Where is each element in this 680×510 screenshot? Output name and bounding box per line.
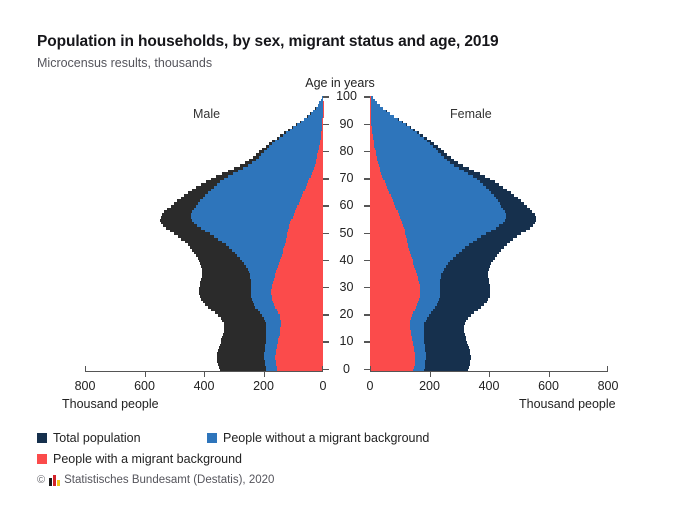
- pyramid-bar: [293, 216, 323, 219]
- pyramid-bar: [281, 319, 323, 322]
- pyramid-bar: [315, 164, 323, 167]
- pyramid-bar: [370, 172, 381, 175]
- pyramid-bar: [370, 295, 420, 298]
- pyramid-bar: [370, 259, 413, 262]
- pyramid-bar: [300, 199, 323, 202]
- pyramid-bar: [370, 202, 394, 205]
- pyramid-bar: [312, 172, 323, 175]
- value-tick-label: 800: [598, 379, 619, 393]
- pyramid-bar: [276, 270, 323, 273]
- age-tick-label: 100: [323, 89, 370, 103]
- pyramid-bar: [295, 210, 323, 213]
- pyramid-bar: [370, 208, 396, 211]
- value-tick-mark: [489, 371, 490, 377]
- pyramid-bar: [275, 355, 323, 358]
- pyramid-bar: [370, 156, 377, 159]
- pyramid-bar: [314, 167, 323, 170]
- pyramid-bar: [370, 317, 411, 320]
- pyramid-bar: [277, 366, 323, 369]
- pyramid-bar: [370, 243, 408, 246]
- legend-label-without-migrant: People without a migrant background: [223, 431, 429, 445]
- pyramid-bar: [272, 297, 323, 300]
- pyramid-bar: [370, 303, 417, 306]
- pyramid-bar: [289, 227, 324, 230]
- pyramid-bar: [275, 306, 323, 309]
- pyramid-bar: [370, 123, 371, 126]
- pyramid-bar: [370, 357, 415, 360]
- pyramid-bar: [284, 246, 323, 249]
- pyramid-bar: [370, 341, 413, 344]
- value-tick-mark: [607, 366, 608, 372]
- pyramid-bar: [280, 327, 323, 330]
- pyramid-bar: [297, 205, 323, 208]
- pyramid-bar: [370, 126, 372, 129]
- pyramid-bar: [274, 278, 323, 281]
- pyramid-bar: [370, 134, 373, 137]
- pyramid-bar: [276, 352, 323, 355]
- pyramid-bar: [370, 319, 410, 322]
- age-tick-label: 40: [323, 253, 370, 267]
- age-tick-label: 0: [323, 362, 370, 376]
- page-title: Population in households, by sex, migran…: [37, 33, 499, 51]
- pyramid-bar: [370, 150, 376, 153]
- pyramid-bar: [370, 194, 391, 197]
- pyramid-bar: [294, 213, 323, 216]
- pyramid-bar: [370, 314, 412, 317]
- pyramid-bar: [370, 246, 408, 249]
- pyramid-bar: [370, 164, 379, 167]
- pyramid-bar: [276, 349, 323, 352]
- pyramid-bar: [283, 248, 323, 251]
- age-tick-label: 70: [323, 171, 370, 185]
- pyramid-bar: [370, 325, 410, 328]
- pyramid-bar: [370, 224, 403, 227]
- pyramid-bar: [370, 115, 371, 118]
- value-tick-mark: [145, 371, 146, 377]
- pyramid-bar: [370, 338, 412, 341]
- pyramid-bar: [299, 202, 323, 205]
- pyramid-bar: [275, 273, 323, 276]
- male-pyramid-panel: [85, 96, 323, 371]
- male-unit-label: Thousand people: [62, 397, 159, 411]
- pyramid-bar: [271, 292, 323, 295]
- pyramid-bar: [370, 213, 399, 216]
- pyramid-bar: [370, 352, 415, 355]
- value-tick-mark: [549, 371, 550, 377]
- pyramid-bar: [291, 219, 323, 222]
- pyramid-bar: [370, 131, 372, 134]
- legend-swatch-with-migrant: [37, 454, 47, 464]
- pyramid-bar: [288, 229, 323, 232]
- population-pyramid-chart: Population in households, by sex, migran…: [0, 0, 680, 510]
- pyramid-bar: [279, 336, 323, 339]
- pyramid-bar: [307, 183, 323, 186]
- pyramid-bar: [370, 175, 382, 178]
- pyramid-bar: [296, 208, 323, 211]
- pyramid-bar: [370, 297, 419, 300]
- pyramid-bar: [273, 281, 323, 284]
- pyramid-bar: [370, 300, 418, 303]
- value-tick-mark: [85, 366, 86, 372]
- legend-label-total-population: Total population: [53, 431, 141, 445]
- pyramid-bar: [280, 333, 323, 336]
- value-tick-label: 600: [134, 379, 155, 393]
- value-tick-label: 600: [538, 379, 559, 393]
- pyramid-bar: [370, 180, 385, 183]
- pyramid-bar: [272, 295, 323, 298]
- pyramid-bar: [370, 251, 410, 254]
- value-tick-label: 400: [479, 379, 500, 393]
- pyramid-bar: [370, 178, 383, 181]
- pyramid-bar: [277, 344, 323, 347]
- value-tick-label: 200: [253, 379, 274, 393]
- age-tick-label: 80: [323, 144, 370, 158]
- pyramid-bar: [281, 257, 323, 260]
- pyramid-bar: [275, 276, 323, 279]
- pyramid-bar: [370, 327, 410, 330]
- pyramid-bar: [278, 265, 323, 268]
- pyramid-bar: [370, 197, 392, 200]
- pyramid-bar: [370, 219, 401, 222]
- pyramid-bar: [279, 262, 323, 265]
- age-tick-label: 20: [323, 307, 370, 321]
- value-tick-label: 0: [320, 379, 327, 393]
- pyramid-bar: [306, 186, 323, 189]
- female-unit-label: Thousand people: [519, 397, 616, 411]
- pyramid-bar: [370, 118, 371, 121]
- pyramid-bar: [370, 257, 412, 260]
- pyramid-bar: [370, 191, 389, 194]
- value-tick-label: 400: [194, 379, 215, 393]
- pyramid-bar: [370, 284, 420, 287]
- value-tick-mark: [322, 366, 323, 372]
- pyramid-bar: [277, 346, 323, 349]
- pyramid-bar: [286, 238, 323, 241]
- age-tick-label: 60: [323, 198, 370, 212]
- pyramid-bar: [276, 360, 323, 363]
- pyramid-bar: [280, 330, 323, 333]
- pyramid-bar: [370, 306, 416, 309]
- pyramid-bar: [370, 268, 415, 271]
- pyramid-bar: [370, 189, 388, 192]
- pyramid-bar: [370, 145, 374, 148]
- legend-item-with-migrant: People with a migrant background: [37, 452, 242, 466]
- pyramid-bar: [370, 240, 407, 243]
- destatis-logo-icon: [49, 475, 60, 486]
- pyramid-bar: [370, 363, 415, 366]
- pyramid-bar: [370, 205, 395, 208]
- age-tick-label: 50: [323, 226, 370, 240]
- pyramid-bar: [370, 349, 414, 352]
- age-tick-label: 10: [323, 334, 370, 348]
- pyramid-bar: [272, 284, 323, 287]
- pyramid-bar: [370, 276, 418, 279]
- value-tick-label: 800: [75, 379, 96, 393]
- pyramid-bar: [370, 278, 418, 281]
- pyramid-bar: [370, 254, 411, 257]
- pyramid-bar: [370, 161, 378, 164]
- pyramid-bar: [370, 186, 387, 189]
- value-tick-label: 200: [419, 379, 440, 393]
- pyramid-bar: [370, 308, 415, 311]
- pyramid-bar: [370, 336, 412, 339]
- age-tick-label: 30: [323, 280, 370, 294]
- value-tick-mark: [430, 371, 431, 377]
- age-axis-title: Age in years: [0, 76, 680, 90]
- pyramid-bar: [370, 346, 414, 349]
- pyramid-bar: [370, 142, 374, 145]
- female-pyramid-panel: [370, 96, 608, 371]
- pyramid-bar: [278, 338, 323, 341]
- pyramid-bar: [303, 191, 323, 194]
- pyramid-bar: [275, 357, 323, 360]
- pyramid-bar: [277, 268, 323, 271]
- pyramid-bar: [316, 161, 323, 164]
- pyramid-bar: [370, 330, 411, 333]
- pyramid-bar: [370, 262, 413, 265]
- pyramid-bar: [271, 289, 323, 292]
- female-with-migrant-bars: [370, 96, 608, 371]
- pyramid-bar: [370, 360, 415, 363]
- pyramid-bar: [370, 232, 405, 235]
- pyramid-bar: [313, 170, 323, 173]
- pyramid-bar: [370, 170, 380, 173]
- footer: © Statistisches Bundesamt (Destatis), 20…: [37, 474, 274, 486]
- pyramid-bar: [274, 303, 323, 306]
- pyramid-bar: [370, 333, 411, 336]
- pyramid-bar: [370, 366, 414, 369]
- pyramid-bar: [285, 243, 323, 246]
- value-tick-label: 0: [367, 379, 374, 393]
- pyramid-bar: [370, 137, 373, 140]
- pyramid-bar: [370, 289, 420, 292]
- pyramid-bar: [370, 281, 419, 284]
- pyramid-bar: [370, 227, 404, 230]
- pyramid-bar: [370, 235, 406, 238]
- value-tick-mark: [204, 371, 205, 377]
- value-tick-mark: [264, 371, 265, 377]
- legend-item-without-migrant: People without a migrant background: [207, 431, 429, 445]
- pyramid-bar: [281, 322, 323, 325]
- pyramid-bar: [370, 311, 413, 314]
- legend-swatch-without-migrant: [207, 433, 217, 443]
- pyramid-bar: [280, 314, 323, 317]
- pyramid-bar: [281, 325, 323, 328]
- pyramid-bar: [308, 180, 323, 183]
- pyramid-bar: [301, 197, 323, 200]
- pyramid-bar: [287, 232, 323, 235]
- pyramid-bar: [280, 317, 323, 320]
- pyramid-bar: [286, 240, 323, 243]
- male-with-migrant-bars: [85, 96, 323, 371]
- pyramid-bar: [272, 287, 323, 290]
- pyramid-bar: [282, 254, 323, 257]
- pyramid-bar: [280, 259, 323, 262]
- pyramid-bar: [290, 221, 323, 224]
- pyramid-bar: [309, 178, 323, 181]
- pyramid-bar: [370, 287, 420, 290]
- pyramid-bar: [370, 322, 410, 325]
- pyramid-bar: [370, 221, 402, 224]
- pyramid-bar: [305, 189, 323, 192]
- pyramid-bar: [370, 273, 417, 276]
- pyramid-bar: [273, 300, 323, 303]
- pyramid-bar: [370, 292, 420, 295]
- pyramid-bar: [370, 140, 374, 143]
- age-tick-label: 90: [323, 117, 370, 131]
- page-subtitle: Microcensus results, thousands: [37, 56, 212, 70]
- pyramid-bar: [370, 148, 375, 151]
- pyramid-bar: [370, 216, 400, 219]
- pyramid-bar: [370, 265, 414, 268]
- pyramid-bar: [370, 248, 409, 251]
- pyramid-bar: [276, 363, 323, 366]
- pyramid-bar: [278, 311, 323, 314]
- pyramid-bar: [370, 355, 415, 358]
- pyramid-bar: [311, 175, 323, 178]
- age-axis: 0102030405060708090100: [323, 96, 370, 372]
- pyramid-bar: [283, 251, 323, 254]
- pyramid-bar: [370, 153, 376, 156]
- pyramid-bar: [278, 341, 323, 344]
- pyramid-bar: [277, 308, 323, 311]
- pyramid-bar: [370, 167, 380, 170]
- pyramid-bar: [370, 112, 371, 115]
- pyramid-bar: [370, 210, 398, 213]
- pyramid-bar: [370, 344, 413, 347]
- legend-label-with-migrant: People with a migrant background: [53, 452, 242, 466]
- pyramid-bar: [370, 129, 372, 132]
- legend-swatch-total-population: [37, 433, 47, 443]
- pyramid-bar: [370, 270, 416, 273]
- copyright-symbol: ©: [37, 474, 45, 486]
- pyramid-bar: [370, 199, 393, 202]
- pyramid-bar: [287, 235, 323, 238]
- legend-item-total-population: Total population: [37, 431, 141, 445]
- pyramid-bar: [316, 159, 323, 162]
- pyramid-bar: [289, 224, 323, 227]
- pyramid-bar: [370, 229, 405, 232]
- pyramid-bar: [370, 183, 386, 186]
- value-tick-mark: [370, 366, 371, 372]
- pyramid-bar: [370, 121, 371, 124]
- pyramid-bar: [370, 159, 377, 162]
- footer-attribution: Statistisches Bundesamt (Destatis), 2020: [64, 474, 274, 486]
- pyramid-bar: [302, 194, 323, 197]
- pyramid-bar: [370, 238, 407, 241]
